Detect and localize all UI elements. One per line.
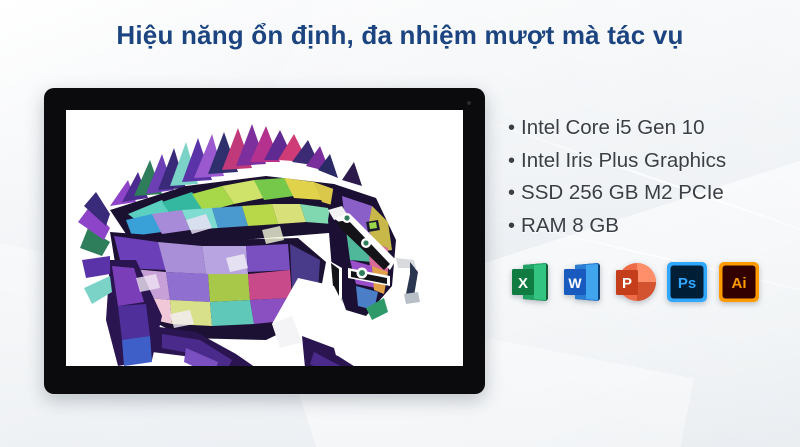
bullet-icon: • xyxy=(508,151,515,171)
app-icon-row: X W P Ps xyxy=(510,261,760,303)
bullet-icon: • xyxy=(508,216,515,236)
spec-label: RAM 8 GB xyxy=(521,216,619,237)
page-title: Hiệu năng ổn định, đa nhiệm mượt mà tác … xyxy=(0,20,800,51)
bullet-icon: • xyxy=(508,118,515,138)
list-item: • RAM 8 GB xyxy=(508,216,788,237)
spec-label: Intel Iris Plus Graphics xyxy=(521,151,726,172)
horse-artwork xyxy=(66,110,463,366)
promo-banner: Hiệu năng ổn định, đa nhiệm mượt mà tác … xyxy=(0,0,800,447)
laptop-device xyxy=(44,88,485,394)
laptop-screen xyxy=(66,110,463,366)
bullet-icon: • xyxy=(508,183,515,203)
list-item: • SSD 256 GB M2 PCIe xyxy=(508,183,788,204)
list-item: • Intel Core i5 Gen 10 xyxy=(508,118,788,139)
svg-text:Ps: Ps xyxy=(678,275,696,292)
spec-label: Intel Core i5 Gen 10 xyxy=(521,118,704,139)
svg-text:X: X xyxy=(518,275,528,292)
word-icon: W xyxy=(562,261,604,303)
spec-label: SSD 256 GB M2 PCIe xyxy=(521,183,724,204)
illustrator-icon: Ai xyxy=(718,261,760,303)
spec-list: • Intel Core i5 Gen 10 • Intel Iris Plus… xyxy=(508,118,788,248)
svg-text:P: P xyxy=(622,275,632,292)
excel-icon: X xyxy=(510,261,552,303)
list-item: • Intel Iris Plus Graphics xyxy=(508,151,788,172)
svg-text:W: W xyxy=(568,275,582,291)
svg-text:Ai: Ai xyxy=(732,275,747,292)
photoshop-icon: Ps xyxy=(666,261,708,303)
powerpoint-icon: P xyxy=(614,261,656,303)
